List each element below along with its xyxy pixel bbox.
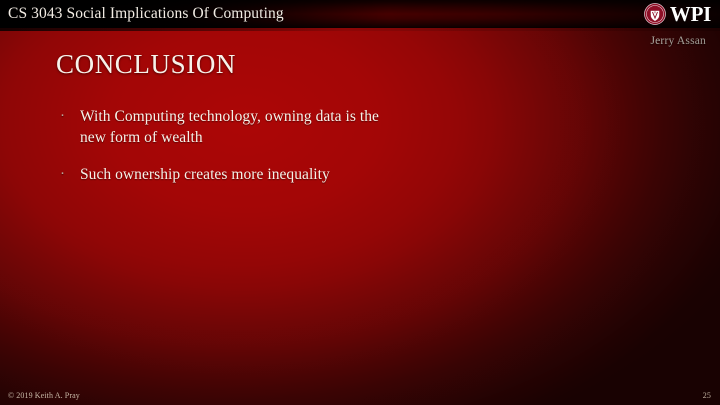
slide-title: CONCLUSION bbox=[56, 47, 236, 81]
wpi-wordmark: WPI bbox=[670, 3, 711, 25]
bullet-text: With Computing technology, owning data i… bbox=[80, 106, 388, 148]
bullet-marker-icon: · bbox=[60, 106, 65, 127]
wpi-logo: WPI bbox=[644, 1, 711, 27]
author-name: Jerry Assan bbox=[650, 35, 706, 47]
course-title: CS 3043 Social Implications Of Computing bbox=[8, 2, 284, 26]
bullet-item: · With Computing technology, owning data… bbox=[58, 106, 388, 148]
background-vignette bbox=[0, 28, 720, 405]
presentation-slide: CS 3043 Social Implications Of Computing… bbox=[0, 0, 720, 405]
slide-header-underline bbox=[0, 28, 720, 31]
wpi-seal-icon bbox=[644, 3, 666, 25]
bullet-item: · Such ownership creates more inequality bbox=[58, 164, 388, 185]
footer-page-number: 25 bbox=[703, 391, 711, 401]
footer-copyright: © 2019 Keith A. Pray bbox=[8, 391, 80, 401]
bullet-marker-icon: · bbox=[60, 164, 65, 185]
bullet-list: · With Computing technology, owning data… bbox=[58, 106, 388, 201]
bullet-text: Such ownership creates more inequality bbox=[80, 164, 388, 185]
